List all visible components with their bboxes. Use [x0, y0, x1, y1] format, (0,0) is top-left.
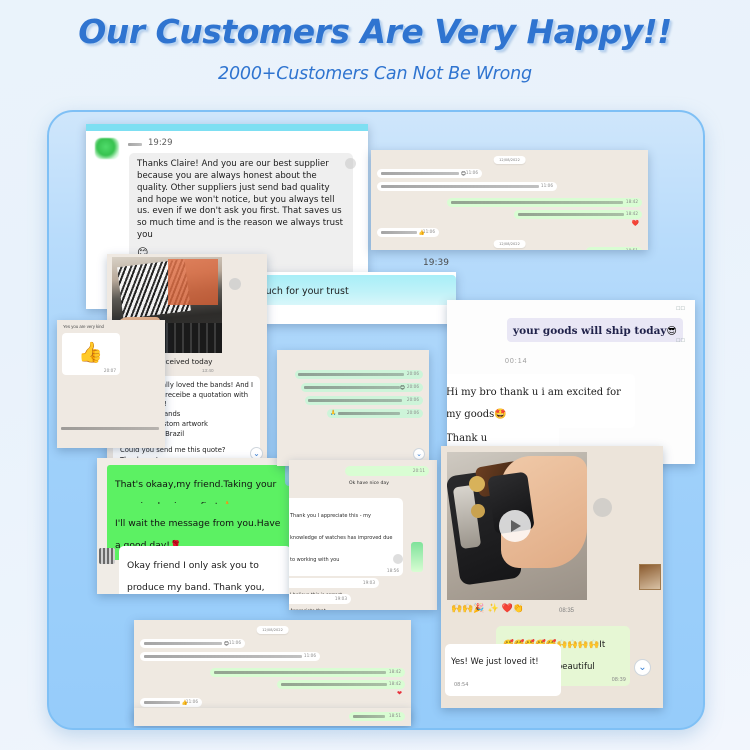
card-patient-person[interactable]: 20:06 😊 20:06 20:06 🙏 20:06 ⌄: [277, 350, 429, 466]
ship-incoming-1-text: Hi my bro thank u i am excited for my go…: [447, 387, 621, 420]
nice-day-attach-icon[interactable]: [393, 554, 403, 564]
nice-day-in-1[interactable]: Thank you I appreciate this - my knowled…: [289, 498, 403, 576]
very-kind-header: Yes you are very kind: [63, 324, 104, 329]
camping-in-1-text: Okay friend I only ask you to produce my…: [127, 560, 265, 594]
watch-in-bubble[interactable]: Yes! We just loved it! 08:54: [445, 644, 561, 696]
card-nice-day[interactable]: Ok have nice day 20:11 Thank you I appre…: [289, 460, 437, 610]
ship-today-bubble[interactable]: your goods will ship today😎: [507, 318, 683, 342]
dup-chat-line-4-time: 18:42: [389, 681, 401, 687]
thumbs-up-sticker: 👍: [78, 340, 103, 364]
received-caption-time: 13:40: [202, 368, 214, 373]
nice-day-voice-note[interactable]: [411, 542, 423, 572]
page-title: Our Customers Are Very Happy!!: [0, 12, 750, 51]
chat-line-4[interactable]: 18:42: [514, 210, 642, 219]
footer-blur-line: [61, 427, 159, 430]
patient-line-3-time: 20:06: [407, 410, 419, 416]
patient-line-0-time: 20:06: [407, 371, 419, 377]
chat-line-1-time: 11:06: [466, 170, 478, 176]
card-very-kind[interactable]: Yes you are very kind 👍 20:07: [57, 320, 165, 448]
chat-line-5[interactable]: 👍 11:06: [377, 228, 439, 237]
patient-line-1-time: 20:06: [407, 384, 419, 390]
sunglasses-emoji: 😎: [666, 326, 676, 337]
trust-reply-time-label: 19:39: [423, 258, 449, 268]
watch-video-thumbnail[interactable]: [447, 452, 587, 600]
video-time: 08:35: [559, 608, 574, 614]
patient-line-2[interactable]: 20:06: [305, 396, 423, 405]
watch-thumb-preview[interactable]: [639, 564, 661, 590]
nice-day-in-1-text: Thank you I appreciate this - my knowled…: [290, 513, 393, 563]
nice-day-in-2[interactable]: I believe this is correct. 19:03: [289, 578, 379, 588]
page-header: Our Customers Are Very Happy!! 2000+Cust…: [0, 0, 750, 84]
page-subtitle: 2000+Customers Can Not Be Wrong: [0, 64, 750, 84]
dup-date-divider-top: 12/08/2022: [256, 626, 289, 634]
incoming-message-text: Thanks Claire! And you are our best supp…: [137, 159, 343, 240]
heart-reaction: ❤️: [632, 220, 639, 227]
contact-name-blur: [128, 143, 142, 146]
dup-chat-line-6[interactable]: 18:51: [349, 712, 405, 721]
chat-line-3-time: 18:42: [626, 199, 638, 205]
date-divider-top: 12/08/2022: [493, 156, 526, 164]
chat-line-3[interactable]: 18:42: [447, 198, 642, 207]
contact-avatar: [95, 138, 119, 159]
camping-avatar: [99, 548, 115, 564]
nice-day-in-3-text: Appreciate that: [290, 609, 326, 610]
dup-chat-line-4[interactable]: 18:42: [277, 680, 405, 689]
dup-heart-reaction: ❤: [397, 690, 402, 697]
watch-in-text: Yes! We just loved it!: [451, 656, 539, 666]
patient-line-2-time: 20:06: [407, 397, 419, 403]
card-adapters-chat[interactable]: 12/08/2022 😊 11:06 11:06 18:42 18:42 ❤️ …: [371, 150, 648, 250]
chat-top-accent: [86, 124, 368, 131]
forward-icon[interactable]: [593, 498, 612, 517]
watch-out-time: 08:39: [612, 677, 626, 684]
card-watch-video[interactable]: 🙌🙌🎉 ✨ ❤️👏 08:35 🥰🥰🥰🥰🥰🙌🙌🙌🙌It looks pretty…: [441, 446, 663, 708]
dup-chat-line-3[interactable]: 18:42: [210, 668, 405, 677]
very-kind-sticker-bubble[interactable]: 👍 20:07: [62, 333, 120, 375]
date-divider-bottom: 12/08/2022: [493, 240, 526, 248]
message-time: 19:29: [148, 138, 173, 148]
chat-line-2-time: 11:06: [541, 183, 553, 189]
patient-scroll-icon[interactable]: ⌄: [413, 448, 425, 460]
ship-time-divider: 00:14: [505, 358, 528, 365]
nice-day-in-1-time: 18:56: [387, 568, 399, 574]
message-menu-icon[interactable]: [345, 158, 356, 169]
card-camping[interactable]: That's okaay,my friend.Taking your campi…: [97, 458, 315, 594]
dup-chat-line-5-time: 11:06: [186, 699, 198, 705]
dup-chat-line-2[interactable]: 11:06: [140, 652, 320, 661]
dup-chat-line-5[interactable]: 👍 11:06: [140, 698, 202, 707]
chat-line-6-time: 18:51: [626, 248, 638, 250]
chat-line-6[interactable]: 18:51: [586, 247, 642, 250]
card-adapters-chat-duplicate[interactable]: 12/08/2022 😊 11:06 11:06 18:42 18:42 ❤ 👍…: [134, 620, 411, 720]
chat-line-2[interactable]: 11:06: [377, 182, 557, 191]
photo-menu-icon[interactable]: [229, 278, 241, 290]
dup-chat-line-1-time: 11:06: [229, 640, 241, 646]
patient-line-1[interactable]: 😊 20:06: [301, 383, 423, 392]
very-kind-time: 20:07: [104, 368, 116, 373]
chat-line-1[interactable]: 😊 11:06: [377, 169, 482, 178]
chat-line-4-time: 18:42: [626, 211, 638, 217]
ship-incoming-2-text: Thank u: [447, 433, 487, 444]
ship-read-receipt-2: ☐☐: [676, 338, 685, 344]
starstruck-emoji: 🤩: [494, 409, 506, 420]
dup-chat-line-2-time: 11:06: [304, 653, 316, 659]
dup-chat-line-6-time: 18:51: [389, 713, 401, 719]
nice-day-out-1-text: Ok have nice day: [349, 481, 389, 486]
patient-line-3[interactable]: 🙏 20:06: [327, 409, 423, 418]
ship-today-text: your goods will ship today: [513, 325, 666, 337]
nice-day-out-1-time: 20:11: [413, 468, 425, 474]
watch-in-time: 08:54: [454, 682, 468, 688]
dup-chat-line-3-time: 18:42: [389, 669, 401, 675]
nice-day-in-3-time: 19:03: [335, 596, 347, 602]
patient-line-0[interactable]: 20:06: [295, 370, 423, 379]
play-button[interactable]: [499, 510, 531, 542]
nice-day-out-1[interactable]: Ok have nice day 20:11: [345, 466, 429, 476]
nice-day-in-2-time: 19:03: [363, 580, 375, 586]
watch-scroll-down-icon[interactable]: ⌄: [634, 659, 651, 676]
testimonial-collage-panel: 19:29 Thanks Claire! And you are our bes…: [47, 110, 705, 730]
video-reactions: 🙌🙌🎉 ✨ ❤️👏: [451, 604, 524, 614]
card-ship-today[interactable]: ☐☐ your goods will ship today😎 ☐☐ 00:14 …: [447, 300, 695, 464]
dup-chat-line-1[interactable]: 😊 11:06: [140, 639, 245, 648]
chat-line-5-time: 11:06: [423, 229, 435, 235]
camping-in-1[interactable]: Okay friend I only ask you to produce my…: [119, 546, 291, 594]
card-adapters-chat-duplicate-tail[interactable]: 18:51: [134, 708, 411, 726]
ship-read-receipt-1: ☐☐: [676, 306, 685, 312]
nice-day-in-3[interactable]: Appreciate that 19:03: [289, 594, 351, 604]
